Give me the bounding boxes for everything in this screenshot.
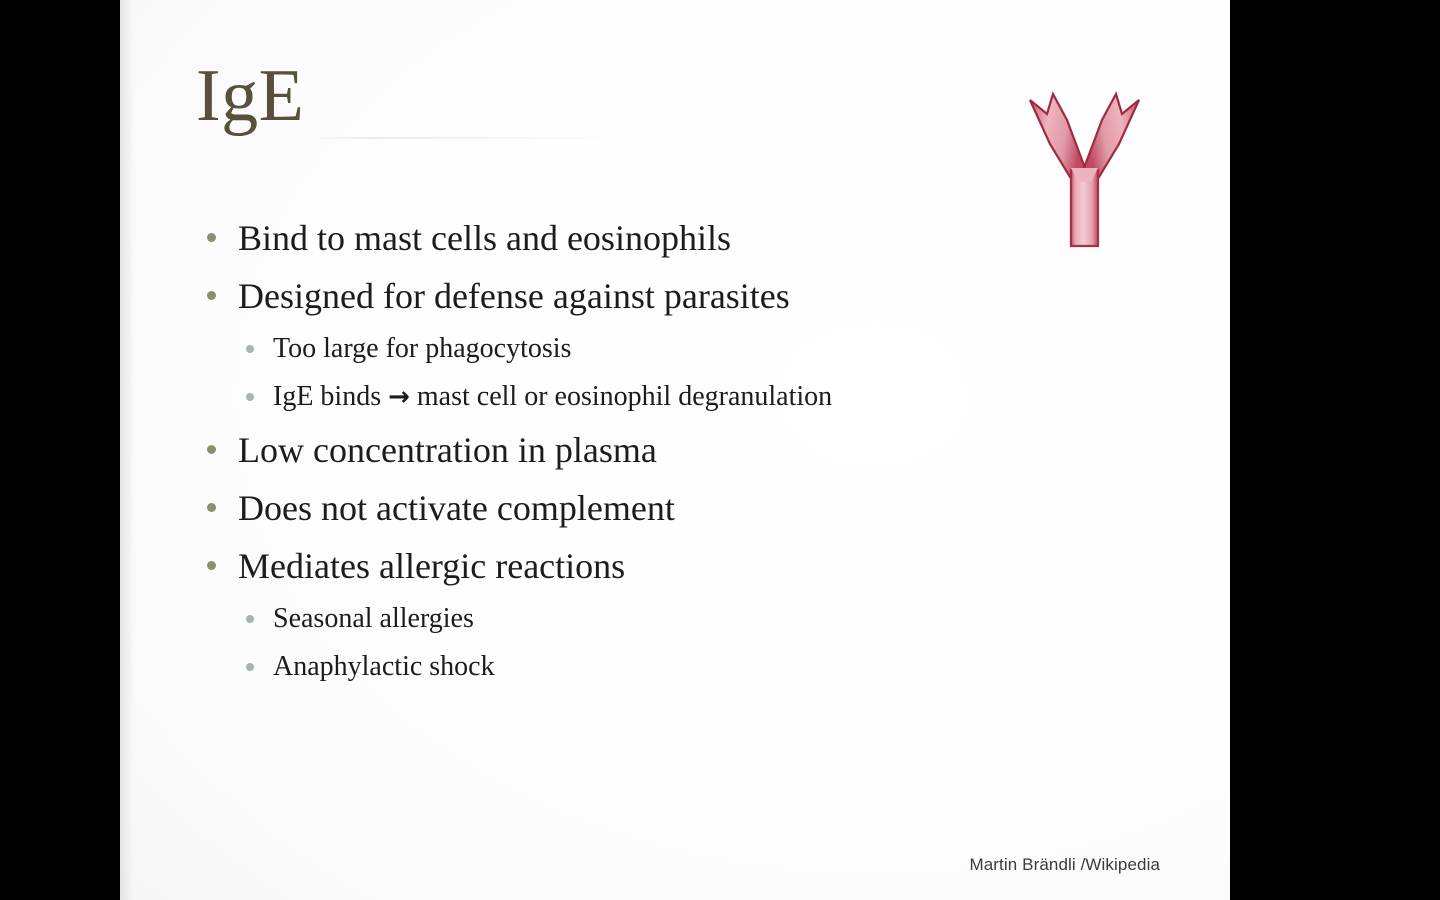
bullet-text: Low concentration in plasma — [238, 421, 657, 479]
slide-canvas: IgE — [120, 0, 1230, 900]
bullet-text: Designed for defense against parasites — [238, 267, 790, 325]
screen: IgE — [0, 0, 1440, 900]
bullet-text: Mediates allergic reactions — [238, 537, 625, 595]
image-credit: Martin Brändli /Wikipedia — [120, 855, 1230, 875]
bullet-dot-icon — [246, 663, 254, 671]
bullet-text: Bind to mast cells and eosinophils — [238, 209, 731, 267]
right-arrow-icon: → — [388, 382, 410, 412]
slide-bullet-list: Bind to mast cells and eosinophilsDesign… — [196, 209, 1186, 691]
bullet-dot-icon — [246, 345, 254, 353]
page-title: IgE — [196, 58, 304, 136]
bullet-text: Too large for phagocytosis — [273, 325, 571, 373]
bullet-item-level1: Does not activate complement — [196, 479, 1186, 537]
bullet-item-level1: Bind to mast cells and eosinophils — [196, 209, 1186, 267]
bullet-item-level2: Too large for phagocytosis — [196, 325, 1186, 373]
bullet-dot-icon — [207, 503, 216, 512]
bullet-item-level1: Low concentration in plasma — [196, 421, 1186, 479]
bullet-dot-icon — [207, 445, 216, 454]
bullet-dot-icon — [207, 291, 216, 300]
bullet-text: IgE binds → mast cell or eosinophil degr… — [273, 373, 832, 421]
title-underline-rule — [310, 137, 610, 139]
bullet-dot-icon — [246, 615, 254, 623]
bullet-item-level1: Designed for defense against parasites — [196, 267, 1186, 325]
bullet-dot-icon — [207, 233, 216, 242]
bullet-text: Anaphylactic shock — [273, 643, 495, 691]
letterbox-left — [0, 0, 120, 900]
bullet-item-level2: Seasonal allergies — [196, 595, 1186, 643]
bullet-dot-icon — [207, 561, 216, 570]
bullet-text: Seasonal allergies — [273, 595, 474, 643]
bullet-item-level2: IgE binds → mast cell or eosinophil degr… — [196, 373, 1186, 421]
bullet-text: Does not activate complement — [238, 479, 675, 537]
bullet-item-level2: Anaphylactic shock — [196, 643, 1186, 691]
bullet-dot-icon — [246, 393, 254, 401]
bullet-item-level1: Mediates allergic reactions — [196, 537, 1186, 595]
letterbox-right — [1320, 0, 1440, 900]
